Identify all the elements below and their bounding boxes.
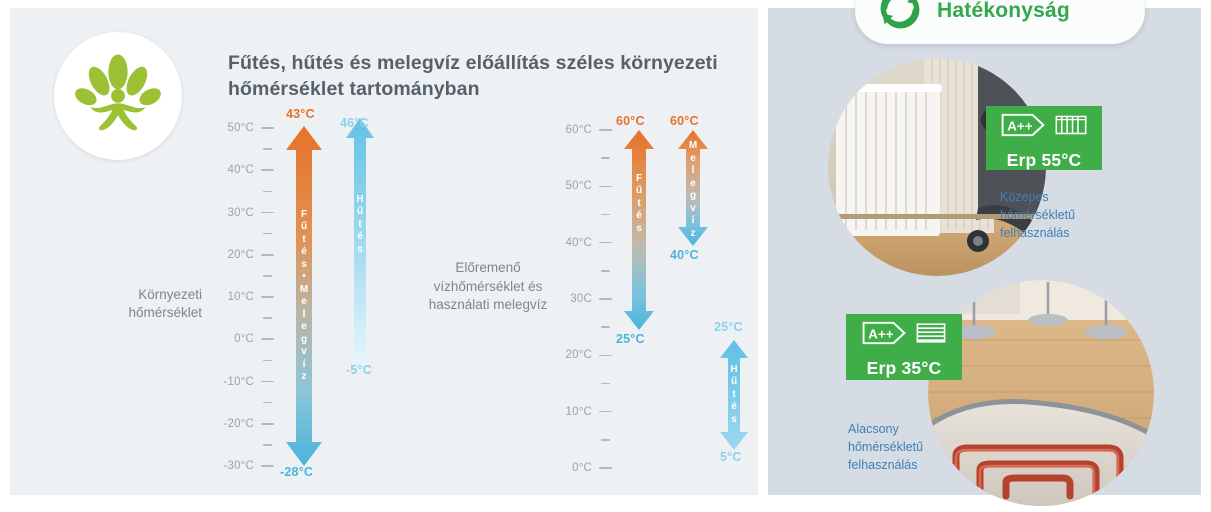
axis-tick-major: 0°C (234, 332, 274, 346)
axis-tick-mark (261, 465, 274, 467)
arrow-hutes: Hűtés (343, 118, 377, 370)
flow-temperature-chart: 60°C50°C40°C30C20°C10°C0°C (550, 128, 750, 476)
axis-tick-label: 40°C (228, 164, 255, 176)
underfloor-icon (915, 321, 947, 350)
axis-tick-major: 10°C (228, 290, 275, 304)
infographic-root: Fűtés, hűtés és melegvíz előállítás szél… (0, 0, 1211, 512)
axis-tick-mark (261, 212, 274, 214)
arrow-futes-melegviz: Fűtés•Melegvíz (282, 126, 326, 466)
axis-tick-minor (256, 184, 274, 198)
axis-tick-minor (256, 142, 274, 156)
recycle-circle-icon (877, 0, 923, 37)
arrow-melegviz-bottom-label: 40°C (670, 248, 699, 262)
axis-tick-label: 50°C (228, 122, 255, 134)
axis-tick-major: 50°C (566, 179, 613, 193)
axis-tick-minor (594, 320, 612, 334)
energy-class-a-plus-plus-icon: A++ (862, 321, 906, 350)
erp-badge-55-icons: A++ (1001, 113, 1088, 142)
axis-tick-label: -20°C (223, 418, 254, 430)
axis-tick-major: 20°C (566, 348, 613, 362)
arrow-futes-melegviz-top-label: 43°C (286, 107, 315, 121)
energy-class-a-plus-plus-icon: A++ (1001, 113, 1045, 142)
axis-tick-mark (601, 270, 610, 272)
axis-tick-mark (599, 242, 612, 244)
svg-text:A++: A++ (868, 327, 893, 342)
svg-text:A++: A++ (1007, 119, 1032, 134)
erp-badge-55: A++ Erp 55°C (986, 106, 1102, 170)
axis-tick-major: -30°C (223, 459, 274, 473)
axis-tick-mark (263, 233, 272, 235)
axis-tick-mark (263, 317, 272, 319)
logo-badge (54, 32, 182, 160)
axis-tick-label: -30°C (223, 460, 254, 472)
ambient-temperature-chart: 50°C40°C30°C20°C10°C0°C-10°C-20°C-30°C (206, 120, 386, 478)
axis-tick-major: 40°C (228, 163, 275, 177)
axis-tick-minor (256, 269, 274, 283)
efficiency-pill-label: Hatékonyság (937, 0, 1070, 23)
axis-tick-mark (263, 191, 272, 193)
axis-tick-mark (263, 360, 272, 362)
axis-tick-mark (601, 326, 610, 328)
axis-tick-minor (256, 353, 274, 367)
axis-tick-mark (261, 127, 274, 129)
axis-tick-label: 50°C (566, 180, 593, 192)
page-title: Fűtés, hűtés és melegvíz előállítás szél… (228, 50, 728, 103)
erp-badge-35: A++ Erp 35°C (846, 314, 962, 380)
left-axis-caption: Környezeti hőmérséklet (80, 286, 202, 322)
axis-tick-major: 40°C (566, 236, 613, 250)
axis-tick-minor (594, 208, 612, 222)
axis-tick-mark (261, 169, 274, 171)
axis-tick-minor (256, 311, 274, 325)
axis-tick-minor (594, 377, 612, 391)
axis-tick-minor (594, 151, 612, 165)
radiator-icon (1054, 113, 1088, 142)
axis-tick-minor (256, 438, 274, 452)
axis-tick-minor (256, 227, 274, 241)
axis-tick-label: 40°C (566, 237, 593, 249)
axis-tick-mark (599, 467, 612, 469)
axis-tick-major: 30C (570, 292, 612, 306)
axis-tick-major: -10°C (223, 375, 274, 389)
axis-tick-major: 60°C (566, 123, 613, 137)
axis-tick-major: 50°C (228, 121, 275, 135)
right-panel: A++ Erp 55°C Közepes hőmérsé (768, 8, 1201, 495)
arrow-futes: Fűtés (620, 130, 658, 330)
axis-tick-mark (601, 214, 610, 216)
axis-tick-mark (261, 423, 274, 425)
axis-tick-major: 20°C (228, 248, 275, 262)
erp-badge-55-label: Erp 55°C (1007, 150, 1082, 176)
axis-tick-major: 0°C (572, 461, 612, 475)
arrow-futes-bottom-label: 25°C (616, 332, 645, 346)
axis-tick-label: 30°C (228, 207, 255, 219)
arrow-futes-top-label: 60°C (616, 114, 645, 128)
right-axis: 60°C50°C40°C30C20°C10°C0°C (550, 128, 612, 476)
axis-tick-mark (601, 157, 610, 159)
arrow-hutes-bottom-label: -5°C (346, 363, 372, 377)
axis-tick-mark (261, 381, 274, 383)
arrow-melegviz-top-label: 60°C (670, 114, 699, 128)
axis-tick-mark (599, 298, 612, 300)
radiator-photo-caption: Közepes hőmérsékletű felhasználás (1000, 188, 1120, 242)
left-panel: Fűtés, hűtés és melegvíz előállítás szél… (10, 8, 758, 495)
axis-tick-minor (594, 433, 612, 447)
eco-person-tree-logo (72, 48, 164, 145)
axis-tick-mark (263, 444, 272, 446)
axis-tick-mark (601, 383, 610, 385)
axis-tick-mark (261, 254, 274, 256)
axis-tick-label: 20°C (566, 349, 593, 361)
axis-tick-label: 20°C (228, 249, 255, 261)
axis-tick-mark (599, 186, 612, 188)
axis-tick-mark (601, 439, 610, 441)
axis-tick-label: -10°C (223, 376, 254, 388)
axis-tick-mark (261, 338, 274, 340)
axis-tick-minor (594, 264, 612, 278)
arrow-hutes-right-top-label: 25°C (714, 320, 743, 334)
axis-tick-mark (263, 148, 272, 150)
axis-tick-major: 30°C (228, 206, 275, 220)
erp-badge-35-icons: A++ (862, 321, 947, 350)
axis-tick-label: 0°C (572, 462, 592, 474)
axis-tick-major: 10°C (566, 405, 613, 419)
axis-tick-label: 0°C (234, 333, 254, 345)
flow-temperature-caption: Előremenő vízhőmérséklet és használati m… (414, 259, 562, 315)
axis-tick-mark (261, 296, 274, 298)
axis-tick-mark (263, 275, 272, 277)
axis-tick-label: 30C (570, 293, 592, 305)
arrow-futes-melegviz-bottom-label: -28°C (280, 465, 313, 479)
axis-tick-label: 60°C (566, 124, 593, 136)
axis-tick-mark (599, 355, 612, 357)
axis-tick-label: 10°C (228, 291, 255, 303)
arrow-hutes-top-label: 46°C (340, 116, 369, 130)
axis-tick-minor (256, 396, 274, 410)
left-axis: 50°C40°C30°C20°C10°C0°C-10°C-20°C-30°C (206, 120, 274, 478)
axis-tick-major: -20°C (223, 417, 274, 431)
axis-tick-mark (599, 129, 612, 131)
arrow-hutes-right-bottom-label: 5°C (720, 450, 742, 464)
axis-tick-mark (263, 402, 272, 404)
efficiency-pill: Hatékonyság (855, 0, 1145, 44)
axis-tick-label: 10°C (566, 406, 593, 418)
erp-badge-35-label: Erp 35°C (867, 358, 942, 384)
arrow-melegviz: Melegvíz (674, 130, 712, 246)
axis-tick-mark (599, 411, 612, 413)
arrow-hutes-right: Hűtés (717, 340, 751, 450)
underfloor-photo-caption: Alacsony hőmérsékletű felhasználás (848, 420, 968, 474)
